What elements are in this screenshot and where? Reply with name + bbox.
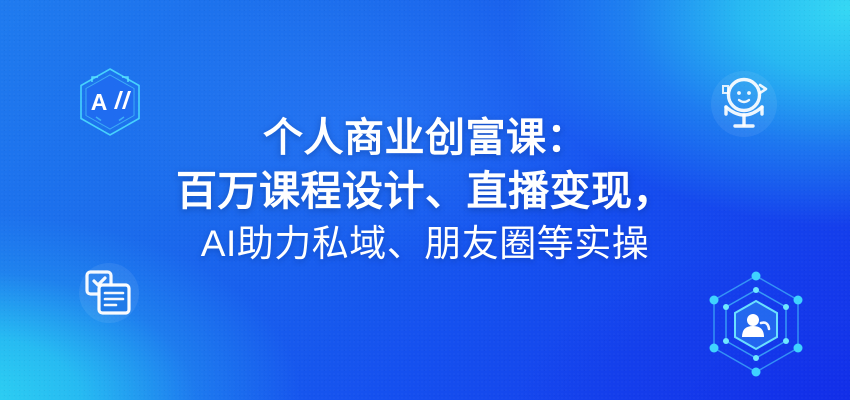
headline: 个人商业创富课： 百万课程设计、直播变现， AI助力私域、朋友圈等实操 [0,118,850,262]
svg-text:A: A [91,89,108,115]
headline-line-2: 百万课程设计、直播变现， [0,171,850,225]
checklist-document-icon [66,252,152,338]
promo-banner: A [0,0,850,400]
headline-line-1: 个人商业创富课： [0,118,850,171]
user-network-hexagon-icon [700,268,812,380]
headline-line-3: AI助力私域、朋友圈等实操 [0,225,850,262]
